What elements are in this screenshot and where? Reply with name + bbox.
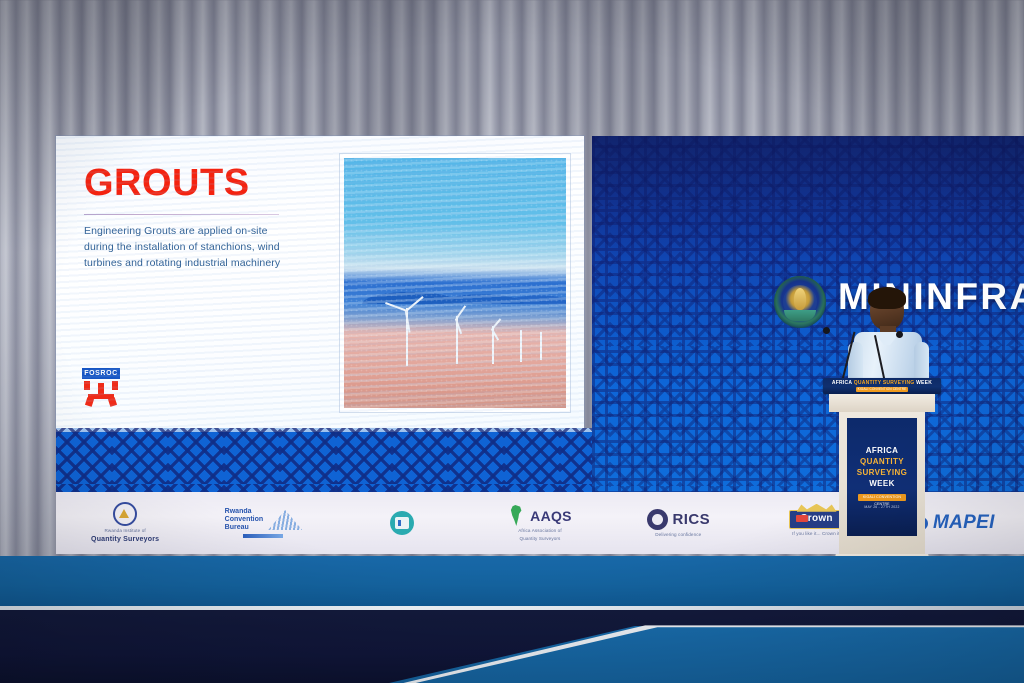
podium-panel-badge: KIGALI CONVENTION CENTRE (858, 494, 906, 501)
rwanda-coat-of-arms-icon (774, 276, 826, 328)
podium-top-badge: KIGALI CONVENTION CENTRE (856, 387, 908, 392)
sponsor-subtitle-2: Quantity Surveyors (520, 536, 561, 542)
conference-stage-photo: MININFRA GROUTS Engineering Grouts are a… (0, 0, 1024, 683)
sponsor-logo-rics: RICS Delivering confidence (609, 509, 747, 538)
circular-teal-icon (390, 511, 414, 535)
africa-map-icon (508, 505, 525, 526)
podium-panel-line-3: SURVEYING (857, 468, 908, 477)
sponsor-name: AAQS (530, 508, 572, 524)
sponsor-name-2: Convention (225, 516, 264, 524)
sponsor-logo-rcb: Rwanda Convention Bureau (194, 508, 332, 537)
sponsor-name: RICS (673, 511, 710, 528)
sponsor-subtitle: Africa Association of (518, 528, 561, 534)
podium-front-panel: AFRICA QUANTITY SURVEYING WEEK KIGALI CO… (847, 418, 917, 536)
microphone-head-right (896, 331, 903, 338)
podium-top-sign: AFRICA QUANTITY SURVEYING WEEK KIGALI CO… (823, 378, 941, 394)
slide-scanlines (56, 136, 584, 428)
sponsor-name-3: Bureau (225, 524, 264, 532)
podium-panel-line-1: AFRICA (866, 446, 899, 456)
sponsor-subtitle: Rwanda Institute of (105, 528, 146, 534)
podium-panel-line-4: WEEK (869, 479, 895, 489)
riqs-triangle-icon (113, 502, 137, 526)
rcb-underline (243, 534, 283, 538)
speaker-hair (868, 287, 906, 309)
sponsor-name: Rwanda (225, 508, 264, 516)
podium-shelf (829, 394, 935, 412)
podium-panel-line-2: QUANTITY (860, 457, 904, 466)
sponsor-name: Quantity Surveyors (91, 536, 159, 544)
strip-geometric-pattern-icon (56, 428, 592, 492)
rics-lion-icon (647, 509, 668, 530)
ministry-banner: MININFRA (592, 136, 1024, 492)
podium-panel-dates: MAY 26 - 27TH 2022 (864, 505, 899, 509)
microphone-head-left (823, 327, 830, 334)
sponsor-logo-rha (333, 511, 471, 535)
sponsor-logo-aaqs: AAQS Africa Association of Quantity Surv… (471, 505, 609, 541)
pattern-strip (56, 428, 592, 492)
sponsor-logo-riqs: Rwanda Institute of Quantity Surveyors (56, 502, 194, 544)
stage-upper-floor (0, 556, 1024, 608)
sponsor-tagline: Delivering confidence (655, 532, 701, 538)
podium-top-sign-text: AFRICA QUANTITY SURVEYING WEEK (823, 380, 941, 386)
rcb-fan-icon (268, 510, 302, 530)
presentation-slide: GROUTS Engineering Grouts are applied on… (56, 136, 584, 428)
sponsor-name: MAPEI (933, 512, 995, 534)
